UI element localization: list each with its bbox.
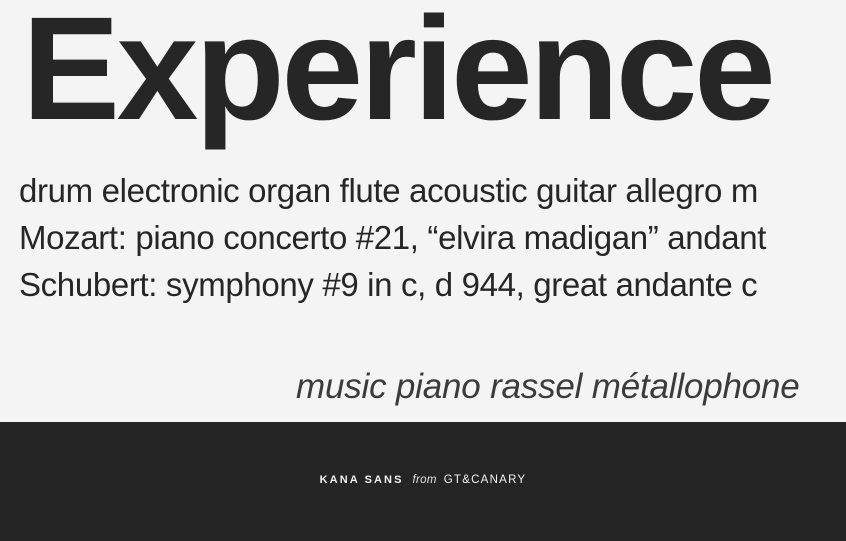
sample-text-block: drum electronic organ flute acoustic gui… [19,167,846,308]
headline-word: Experience [22,0,772,143]
foundry-name-label: GT&CANARY [444,474,527,486]
specimen-light-area: Experience drum electronic organ flute a… [0,0,846,422]
sample-line-2: Mozart: piano concerto #21, “elvira madi… [19,214,846,261]
accent-italic-line: music piano rassel métallophone [296,365,800,409]
credit-connector-label: from [413,474,437,486]
typeface-name-label: KANA SANS [320,474,404,486]
footer-band: KANA SANS from GT&CANARY [0,422,846,541]
footer-credit: KANA SANS from GT&CANARY [320,474,527,486]
type-specimen-canvas: Experience drum electronic organ flute a… [0,0,846,541]
sample-line-1: drum electronic organ flute acoustic gui… [19,167,846,214]
sample-line-3: Schubert: symphony #9 in c, d 944, great… [19,261,846,308]
